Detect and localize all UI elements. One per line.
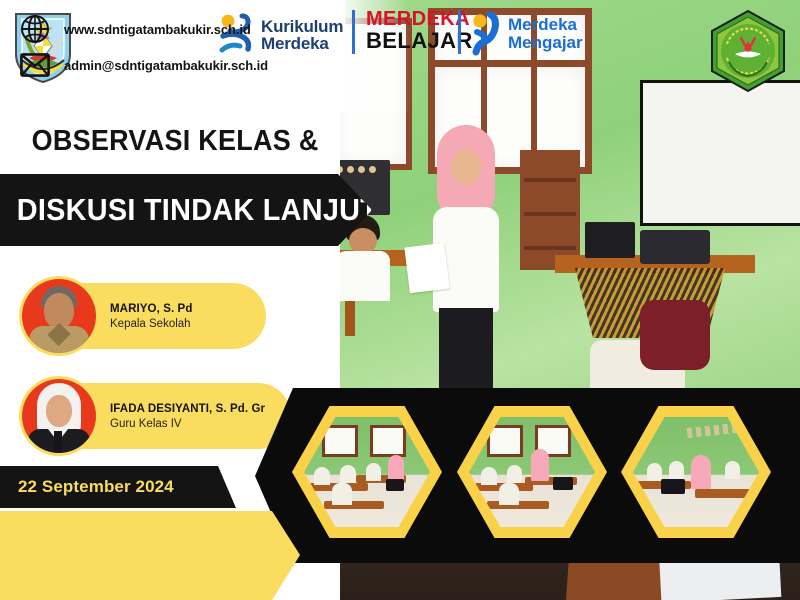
website-text: www.sdntigatambakukir.sch.id [64,22,251,37]
poster-canvas: Kurikulum Merdeka MERDEKA BELAJAR Merdek… [0,0,800,600]
raised-arm-person-icon [468,12,502,56]
person-name: MARIYO, S. Pd [110,303,192,315]
km-line2: Merdeka [261,35,343,53]
title-text-line1: OBSERVASI KELAS & [0,125,319,158]
mm-line1: Merdeka [508,16,583,34]
kurikulum-merdeka-text: Kurikulum Merdeka [261,18,343,53]
contact-website-row[interactable]: www.sdntigatambakukir.sch.id [20,14,251,44]
foreground-student-b [640,300,710,370]
person-role: Guru Kelas IV [110,418,265,430]
mb-line2: BELAJAR [366,30,473,52]
printer [640,230,710,264]
title-bar-line1: OBSERVASI KELAS & [0,113,330,170]
mm-line2: Mengajar [508,34,583,52]
title-bar-line2: DISKUSI TINDAK LANJUT [0,174,372,246]
mb-line1: MERDEKA [366,9,473,29]
title-text-line2: DISKUSI TINDAK LANJUT [0,192,378,228]
date-banner: 22 September 2024 [0,466,236,508]
bookshelf [520,150,580,270]
date-text: 22 September 2024 [0,477,174,497]
km-line1: Kurikulum [261,18,343,36]
standing-teacher [425,125,505,375]
merdeka-mengajar-text: Merdeka Mengajar [508,16,583,52]
person-badge-principal: MARIYO, S. Pd Kepala Sekolah [28,283,266,349]
merdeka-mengajar-logo: Merdeka Mengajar [468,10,583,58]
email-text: admin@sdntigatambakukir.sch.id [64,58,268,73]
merdeka-belajar-logo: MERDEKA BELAJAR [366,9,473,52]
logo-divider-1 [352,10,355,54]
held-paper [404,243,449,294]
school-hexagon-logo [705,8,791,94]
envelope-icon [20,53,50,77]
contact-email-row[interactable]: admin@sdntigatambakukir.sch.id [20,53,268,77]
whiteboard [640,80,800,226]
avatar [22,279,96,353]
avatar [22,379,96,453]
globe-icon [20,14,50,44]
logo-divider-2 [458,10,461,54]
laptop [585,222,635,258]
person-name: IFADA DESIYANTI, S. Pd. Gr [110,403,265,415]
person-badge-teacher: IFADA DESIYANTI, S. Pd. Gr Guru Kelas IV [28,383,291,449]
person-role: Kepala Sekolah [110,318,192,330]
